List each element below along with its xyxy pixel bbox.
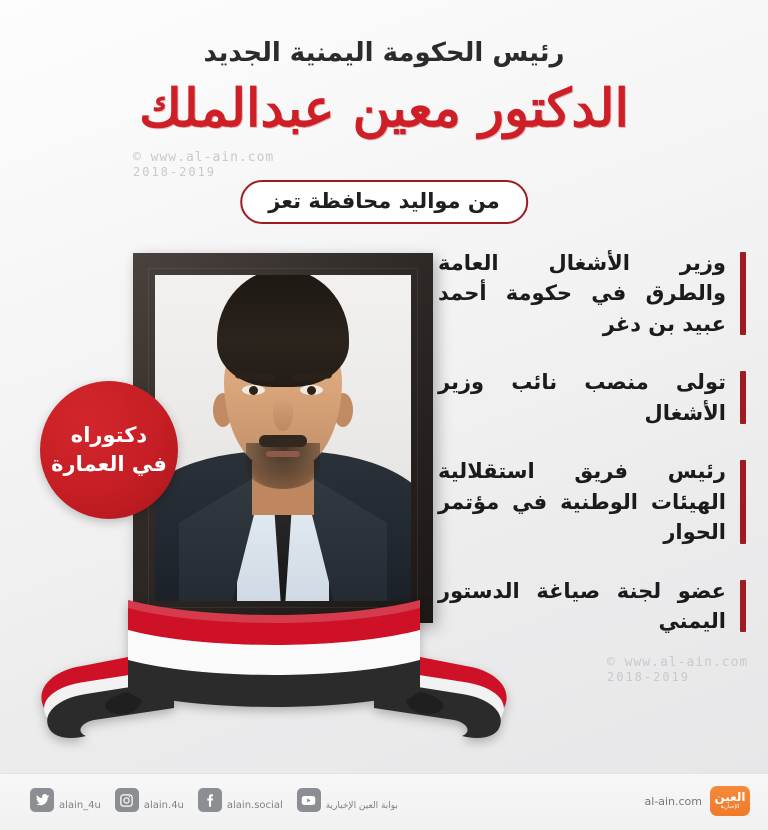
social-youtube[interactable]: بوابة العين الإخبارية: [297, 788, 398, 812]
portrait-tie: [268, 497, 298, 601]
social-instagram[interactable]: alain.4u: [115, 788, 184, 812]
logo-sub-text: الإخبارية: [721, 805, 740, 811]
list-item-text: رئيس فريق استقلالية الهيئات الوطنية في م…: [438, 456, 726, 547]
instagram-handle: alain.4u: [144, 800, 184, 812]
footer-bar: alain_4u alain.4u alain.social بوابة الع…: [0, 773, 768, 830]
portrait-moustache: [259, 435, 307, 447]
twitter-handle: alain_4u: [59, 800, 101, 812]
social-facebook[interactable]: alain.social: [198, 788, 283, 812]
list-item: تولى منصب نائب وزير الأشغال: [438, 367, 746, 428]
social-twitter[interactable]: alain_4u: [30, 788, 101, 812]
portrait-shirt: [237, 485, 329, 601]
facebook-handle: alain.social: [227, 800, 283, 812]
watermark-top: © www.al-ain.com 2018-2019: [133, 151, 274, 180]
yemen-flag-ribbon: [24, 588, 524, 738]
degree-badge: دكتوراه في العمارة: [40, 381, 178, 519]
portrait-suit: [155, 451, 411, 601]
al-ain-logo: العين الإخبارية: [710, 786, 750, 816]
watermark-bottom-line1: © www.al-ain.com: [607, 656, 748, 671]
watermark-bottom: © www.al-ain.com 2018-2019: [607, 656, 748, 685]
facebook-icon: [198, 788, 222, 812]
brand-block[interactable]: al-ain.com العين الإخبارية: [644, 786, 750, 816]
portrait-ear-left: [213, 393, 233, 427]
list-item: وزير الأشغال العامة والطرق في حكومة أحمد…: [438, 248, 746, 339]
birthplace-badge: من مواليد محافظة تعز: [240, 180, 528, 224]
youtube-icon: [297, 788, 321, 812]
portrait-eye-left: [242, 385, 265, 395]
page-title: الدكتور معين عبدالملك: [0, 78, 768, 139]
brand-url: al-ain.com: [644, 795, 702, 808]
degree-badge-line1: دكتوراه: [71, 421, 147, 450]
portrait-brow-right: [292, 371, 332, 381]
degree-badge-line2: في العمارة: [51, 450, 167, 479]
youtube-handle: بوابة العين الإخبارية: [326, 801, 398, 812]
portrait-frame: [133, 253, 433, 623]
list-item-text: تولى منصب نائب وزير الأشغال: [438, 367, 726, 428]
accent-bar: [740, 371, 746, 424]
portrait-neck: [252, 461, 314, 515]
social-links: alain_4u alain.4u alain.social بوابة الع…: [30, 788, 398, 812]
portrait-face: [224, 323, 342, 469]
instagram-icon: [115, 788, 139, 812]
accent-bar: [740, 580, 746, 633]
portrait-photo: [155, 275, 411, 601]
headline-kicker: رئيس الحكومة اليمنية الجديد: [0, 38, 768, 68]
twitter-icon: [30, 788, 54, 812]
logo-main-text: العين: [714, 791, 745, 803]
infographic-canvas: رئيس الحكومة اليمنية الجديد الدكتور معين…: [0, 0, 768, 830]
accent-bar: [740, 460, 746, 543]
portrait-brow-left: [235, 371, 275, 381]
portrait-nose: [273, 397, 293, 431]
portrait-eye-right: [300, 385, 323, 395]
portrait-hair: [217, 275, 349, 387]
watermark-top-line2: 2018-2019: [133, 166, 274, 180]
list-item-text: وزير الأشغال العامة والطرق في حكومة أحمد…: [438, 248, 726, 339]
portrait-beard: [246, 443, 320, 489]
portrait-lapel-right: [301, 471, 387, 601]
accent-bar: [740, 252, 746, 335]
watermark-top-line1: © www.al-ain.com: [133, 151, 274, 166]
portrait-ear-right: [333, 393, 353, 427]
list-item: رئيس فريق استقلالية الهيئات الوطنية في م…: [438, 456, 746, 547]
portrait-lapel-left: [179, 471, 265, 601]
portrait-mouth: [266, 451, 300, 457]
watermark-bottom-line2: 2018-2019: [607, 671, 748, 685]
